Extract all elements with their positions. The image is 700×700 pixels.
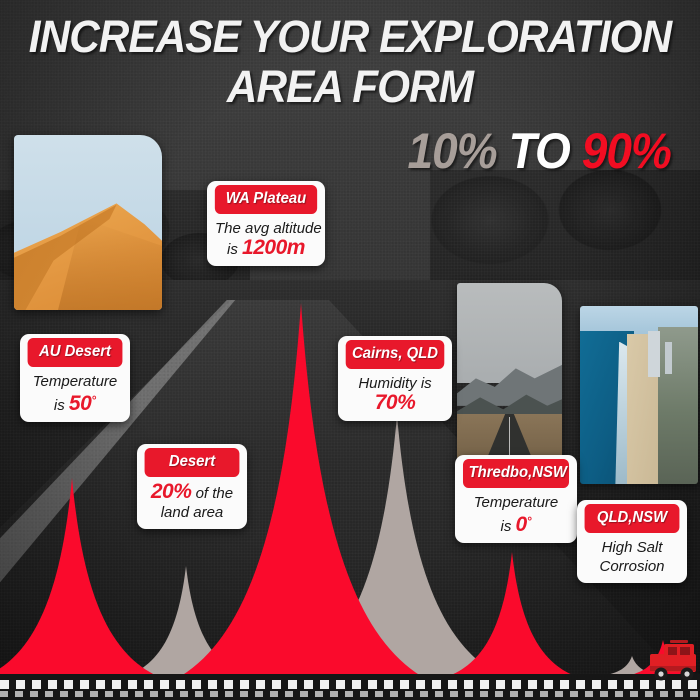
coast-tower-1 — [648, 331, 660, 377]
callout-tag-wa-plateau: WA Plateau — [215, 185, 317, 214]
callout-line1-wa-plateau: The avg altitude — [215, 220, 322, 237]
coast-cityscape — [658, 327, 698, 484]
callout-body-desert: 20% of the land area — [141, 477, 243, 522]
callout-thredbo-nsw[interactable]: Thredbo,NSW Temperature is 0° — [455, 455, 577, 543]
callout-body-thredbo-nsw: Temperature is 0° — [459, 488, 573, 536]
callout-cairns-qld[interactable]: Cairns, QLD Humidity is 70% — [338, 336, 452, 421]
degree-icon: ° — [91, 393, 96, 407]
callout-line1-suffix-desert: of the — [191, 485, 233, 502]
callout-value-desert: 20% — [151, 480, 192, 503]
headline-line-1: INCREASE YOUR EXPLORATION — [21, 12, 679, 62]
peak-peak-1 — [0, 478, 157, 676]
callout-body-qld-nsw: High Salt Corrosion — [581, 533, 683, 576]
coast-tower-2 — [665, 342, 672, 374]
callout-body-cairns-qld: Humidity is 70% — [342, 369, 448, 414]
callout-body-wa-plateau: The avg altitude is 1200m — [211, 214, 321, 259]
callout-tag-desert: Desert — [145, 448, 240, 477]
callout-au-desert[interactable]: AU Desert Temperature is 50° — [20, 334, 130, 422]
coastal-city-photo — [580, 306, 698, 484]
road-dash-row-bottom — [0, 691, 700, 697]
callout-line2-qld-nsw: Corrosion — [599, 558, 664, 575]
callout-value-cairns-qld: 70% — [375, 391, 416, 414]
headline-line-2: AREA FORM — [21, 62, 679, 112]
headline-block: INCREASE YOUR EXPLORATION AREA FORM — [0, 0, 700, 112]
road-marking-baseline — [0, 674, 700, 700]
callout-qld-nsw[interactable]: QLD,NSW High Salt Corrosion — [577, 500, 687, 583]
callout-line1-au-desert: Temperature — [33, 373, 118, 390]
callout-line2-prefix-thredbo-nsw: is — [501, 518, 516, 535]
callout-tag-thredbo-nsw: Thredbo,NSW — [463, 459, 569, 488]
callout-tag-qld-nsw: QLD,NSW — [585, 504, 680, 533]
callout-desert[interactable]: Desert 20% of the land area — [137, 444, 247, 529]
callout-line2-desert: land area — [161, 504, 224, 521]
callout-line2-prefix-au-desert: is — [54, 397, 69, 414]
callout-wa-plateau[interactable]: WA Plateau The avg altitude is 1200m — [207, 181, 325, 266]
desert-dune-photo — [14, 135, 162, 310]
degree-icon: ° — [527, 514, 532, 528]
range-from-value: 10% — [407, 123, 496, 179]
road-photo-sky — [457, 283, 562, 383]
mountain-road-photo — [457, 283, 562, 475]
callout-line1-thredbo-nsw: Temperature — [474, 494, 559, 511]
callout-value-thredbo-nsw: 0 — [516, 513, 527, 536]
callout-value-wa-plateau: 1200m — [242, 236, 305, 259]
callout-body-au-desert: Temperature is 50° — [24, 367, 126, 415]
callout-tag-cairns-qld: Cairns, QLD — [346, 340, 445, 369]
red-4wd-truck-icon — [648, 638, 700, 682]
range-to-value: 90% — [581, 123, 670, 179]
range-connector: TO — [508, 123, 569, 179]
road-dash-row-top — [0, 680, 700, 689]
callout-tag-au-desert: AU Desert — [28, 338, 123, 367]
callout-line1-cairns-qld: Humidity is — [358, 375, 431, 392]
callout-value-au-desert: 50 — [69, 392, 91, 415]
range-subheadline: 10% TO 90% — [407, 125, 671, 177]
callout-line1-qld-nsw: High Salt — [602, 539, 663, 556]
callout-line2-prefix-wa-plateau: is — [227, 241, 242, 258]
infographic-canvas: INCREASE YOUR EXPLORATION AREA FORM 10% … — [0, 0, 700, 700]
